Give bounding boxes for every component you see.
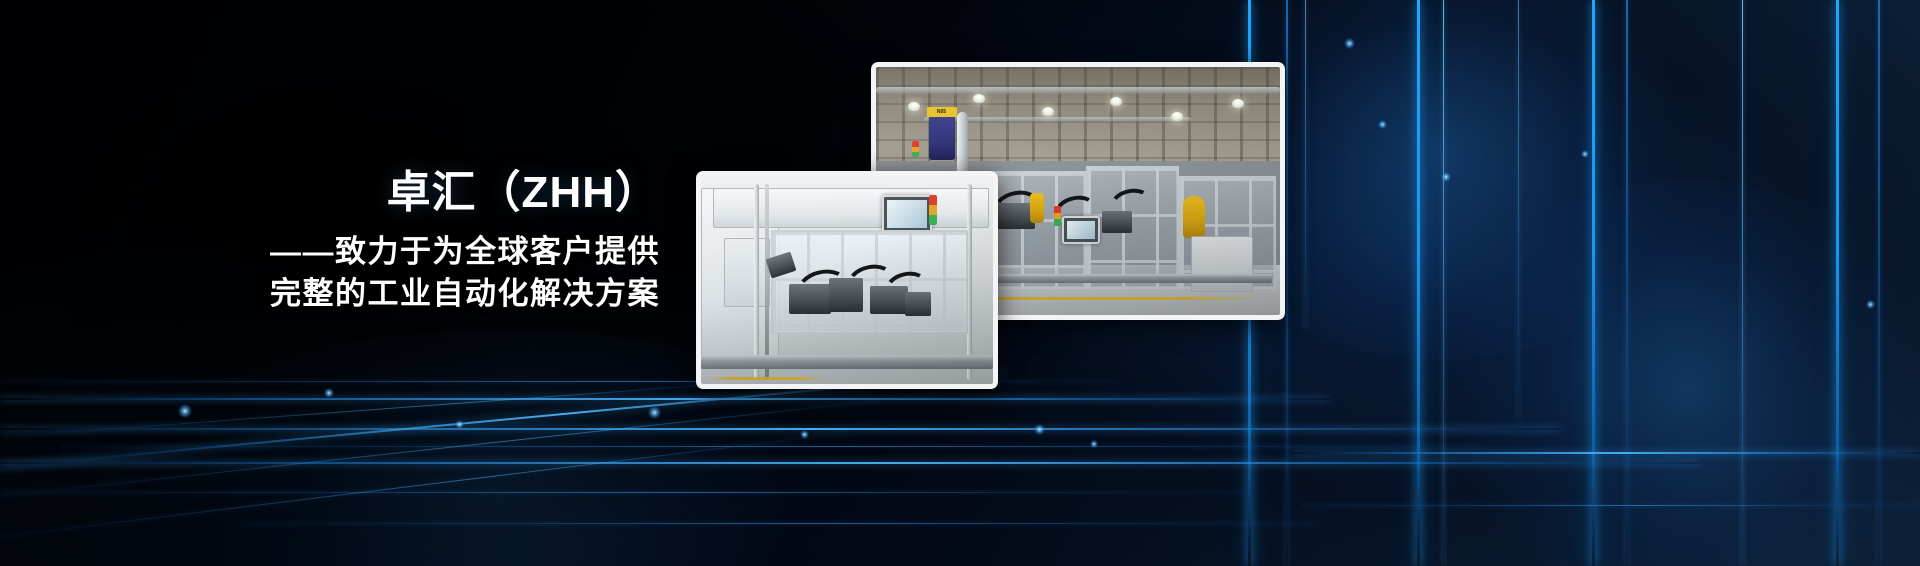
stack-light-red	[1054, 206, 1061, 213]
stack-light-amber	[929, 205, 937, 215]
stack-light	[912, 141, 919, 157]
page-title: 卓汇（ZHH）	[0, 168, 660, 217]
decor-vertical-rail	[1626, 0, 1628, 566]
decor-vertical-rail	[1592, 0, 1595, 566]
stack-light-amber	[1054, 213, 1061, 220]
hero-text-block: 卓汇（ZHH） ——致力于为全球客户提供 完整的工业自动化解决方案	[0, 168, 660, 316]
photo-inner	[701, 176, 993, 384]
decor-horizontal-streak	[0, 428, 1560, 430]
stack-light	[929, 195, 937, 225]
control-cabinet	[1191, 236, 1253, 293]
machine-panel	[724, 238, 770, 307]
floor-safety-line	[707, 377, 824, 380]
decor-horizontal-streak	[0, 492, 1250, 493]
ceiling-lamp	[1042, 107, 1054, 116]
frame-extrusion	[765, 184, 769, 380]
stack-light-green	[929, 215, 937, 225]
stack-light-green	[1054, 219, 1061, 226]
hero-subtitle-line-2: 完整的工业自动化解决方案	[0, 273, 660, 315]
hmi-panel	[1062, 216, 1100, 244]
frame-extrusion	[754, 184, 759, 380]
decor-horizontal-streak	[0, 398, 1330, 400]
hmi-touch-panel	[882, 195, 932, 233]
decor-vertical-rail	[1742, 0, 1743, 566]
decor-vertical-rail	[1443, 0, 1444, 566]
ceiling-duct	[876, 87, 1280, 94]
ceiling-lamp	[973, 94, 985, 103]
hero-banner: 卓汇（ZHH） ——致力于为全球客户提供 完整的工业自动化解决方案 N05	[0, 0, 1920, 566]
machine-enclosure	[1086, 166, 1179, 289]
decor-vertical-rail	[1417, 0, 1420, 566]
factory-scene-closeup	[701, 176, 993, 384]
decor-vertical-rail	[1836, 0, 1839, 566]
ceiling-lamp	[1110, 97, 1122, 106]
stack-light	[1054, 206, 1061, 226]
conveyor	[701, 355, 993, 369]
decor-horizontal-streak	[240, 523, 1320, 524]
decor-vertical-rail	[1518, 0, 1519, 420]
ceiling-lamp	[908, 102, 920, 111]
decor-vertical-rail	[1305, 0, 1306, 330]
robot-base	[929, 114, 955, 160]
decor-horizontal-streak	[60, 446, 1480, 447]
decor-vertical-rail	[1286, 0, 1288, 566]
equipment-tag: N05	[927, 107, 957, 117]
decor-horizontal-streak	[1290, 452, 1920, 454]
ceiling-lamp	[1232, 99, 1244, 108]
robot-arm	[1030, 193, 1044, 223]
hero-subtitle-line-1: ——致力于为全球客户提供	[0, 231, 660, 273]
photo-automation-cell-closeup[interactable]	[696, 171, 998, 389]
ceiling-lamp	[1171, 112, 1183, 121]
stack-light-red	[929, 195, 937, 205]
decor-horizontal-streak	[1300, 505, 1920, 506]
robot-arm	[1183, 196, 1205, 238]
decor-vertical-rail	[1878, 0, 1880, 566]
decor-horizontal-streak	[0, 462, 1700, 464]
